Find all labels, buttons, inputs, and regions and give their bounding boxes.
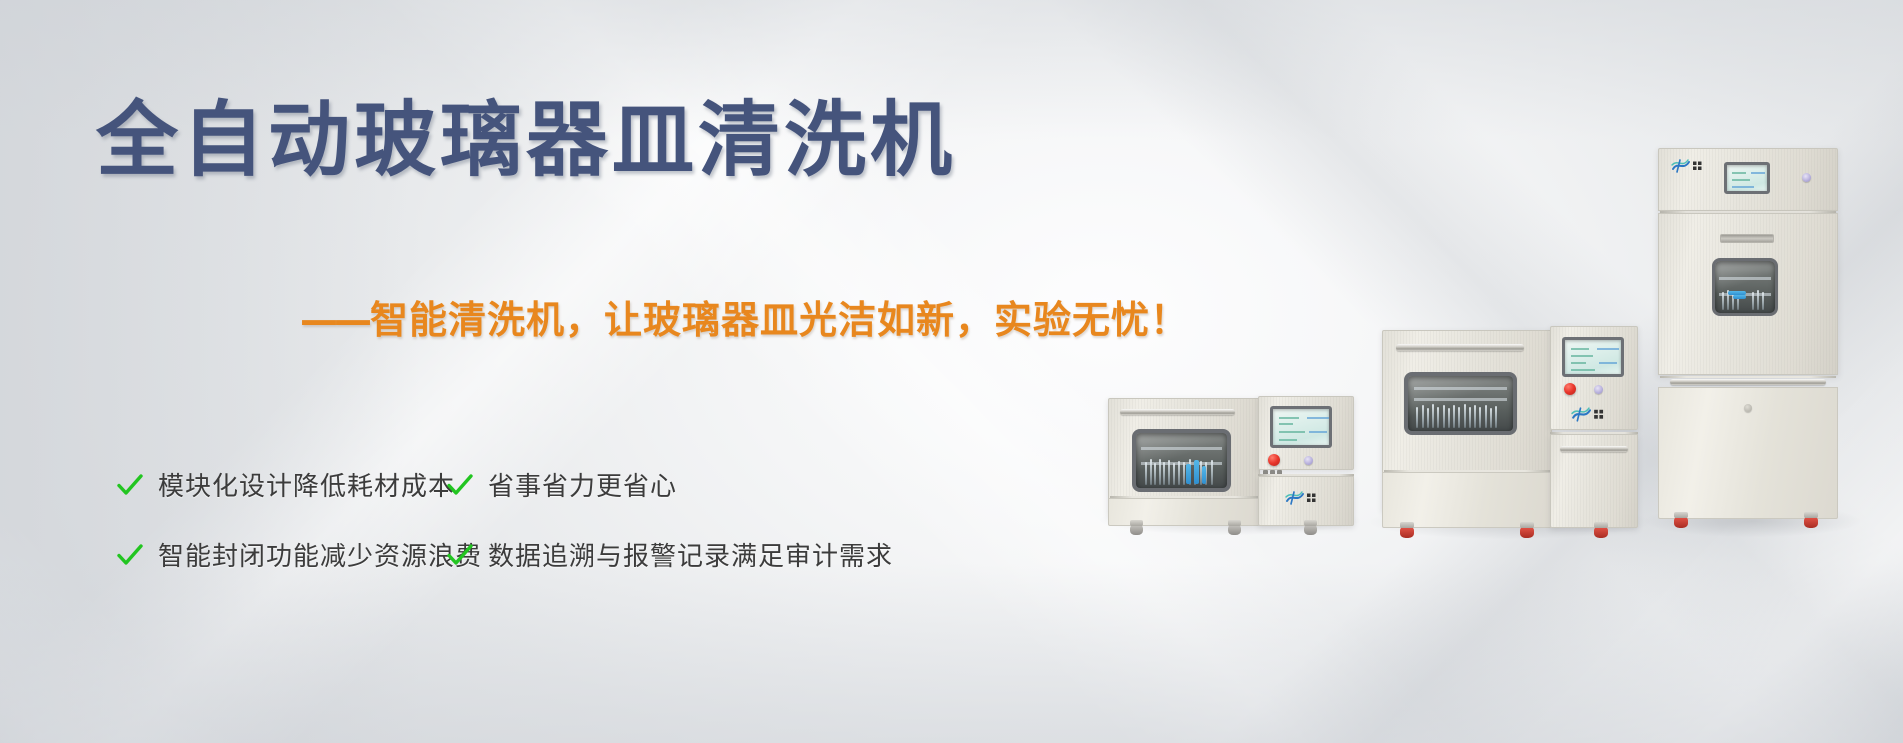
caster-wheel: [1228, 524, 1241, 535]
glassware-load: [1136, 433, 1227, 488]
door-handle: [1670, 379, 1826, 385]
viewing-window: [1712, 258, 1778, 316]
product-image-tall-column-washer: [1658, 148, 1843, 533]
product-banner: 全自动玻璃器皿清洗机 ——智能清洗机，让玻璃器皿光洁如新，实验无忧！ 模块化设计…: [0, 0, 1903, 743]
viewing-window: [1132, 429, 1231, 492]
door-handle: [1120, 409, 1235, 415]
brand-logo-icon: [1670, 158, 1710, 174]
caster-wheel: [1594, 526, 1608, 538]
product-image-undercounter-washer: [1108, 398, 1358, 530]
caster-wheel: [1130, 524, 1143, 535]
brand-logo-icon: [1284, 490, 1324, 506]
door-handle: [1396, 344, 1524, 351]
touchscreen-display[interactable]: [1270, 406, 1332, 448]
touchscreen-display[interactable]: [1724, 162, 1770, 194]
caster-wheel: [1400, 526, 1414, 538]
product-image-freestanding-washer: [1382, 330, 1638, 535]
lower-door: [1382, 472, 1552, 528]
caster-wheel: [1304, 524, 1317, 535]
power-button[interactable]: [1304, 456, 1313, 465]
glassware-load: [1715, 261, 1775, 313]
power-button[interactable]: [1802, 173, 1811, 182]
vent-slot: [1720, 234, 1774, 243]
glassware-load: [1408, 376, 1513, 431]
viewing-window: [1404, 372, 1517, 435]
product-images: [0, 0, 1903, 743]
cabinet-lock-icon: [1744, 404, 1752, 412]
cabinet-handle: [1560, 446, 1628, 452]
caster-wheel: [1674, 516, 1688, 528]
emergency-stop-button[interactable]: [1268, 454, 1280, 466]
panel-seam: [1660, 376, 1836, 378]
touchscreen-display[interactable]: [1562, 337, 1624, 377]
emergency-stop-button[interactable]: [1564, 383, 1576, 395]
power-button[interactable]: [1594, 385, 1603, 394]
caster-wheel: [1804, 516, 1818, 528]
brand-logo-icon: [1570, 406, 1612, 423]
caster-wheel: [1520, 526, 1534, 538]
